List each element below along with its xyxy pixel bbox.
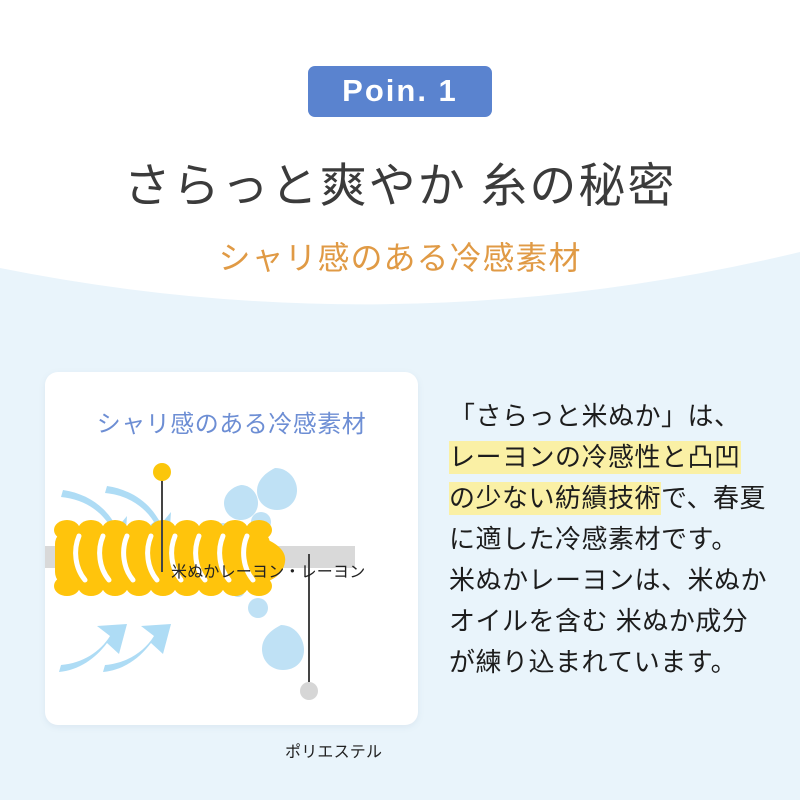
yarn-diagram-svg xyxy=(45,450,418,725)
yarn-diagram: 米ぬかレーヨン・レーヨン ポリエステル xyxy=(45,450,418,725)
rayon-legend-dot xyxy=(153,463,171,481)
diagram-card-title: シャリ感のある冷感素材 xyxy=(45,404,418,439)
body-line-4: に適した冷感素材です。 xyxy=(449,519,779,560)
body-line-5: 米ぬかレーヨンは、米ぬか xyxy=(449,560,779,601)
point-badge: Poin. 1 xyxy=(308,66,492,117)
water-droplets-lower xyxy=(231,583,304,670)
point-badge-container: Poin. 1 xyxy=(0,66,800,117)
rayon-label: 米ぬかレーヨン・レーヨン xyxy=(171,558,365,582)
polyester-legend-dot xyxy=(300,682,318,700)
body-line-3: の少ない紡績技術で、春夏 xyxy=(449,478,779,519)
infographic-page: Poin. 1 さらっと爽やか 糸の秘密 シャリ感のある冷感素材 シャリ感のある… xyxy=(0,0,800,800)
body-line-6: オイルを含む 米ぬか成分 xyxy=(449,601,779,642)
polyester-label: ポリエステル xyxy=(285,738,382,762)
body-line-1: 「さらっと米ぬか」は、 xyxy=(449,396,779,437)
page-title: さらっと爽やか 糸の秘密 xyxy=(0,158,800,217)
body-copy: 「さらっと米ぬか」は、 レーヨンの冷感性と凸凹 の少ない紡績技術で、春夏 に適し… xyxy=(449,396,779,684)
diagram-card: シャリ感のある冷感素材 xyxy=(45,372,418,725)
airflow-arrows-bottom xyxy=(59,624,171,672)
body-line-7: が練り込まれています。 xyxy=(449,642,779,683)
body-line-3-highlight: の少ない紡績技術 xyxy=(449,482,661,515)
body-line-2: レーヨンの冷感性と凸凹 xyxy=(449,437,779,478)
body-line-2-highlight: レーヨンの冷感性と凸凹 xyxy=(449,441,741,474)
page-subtitle: シャリ感のある冷感素材 xyxy=(0,238,800,280)
body-line-3-tail: で、春夏 xyxy=(661,483,766,513)
